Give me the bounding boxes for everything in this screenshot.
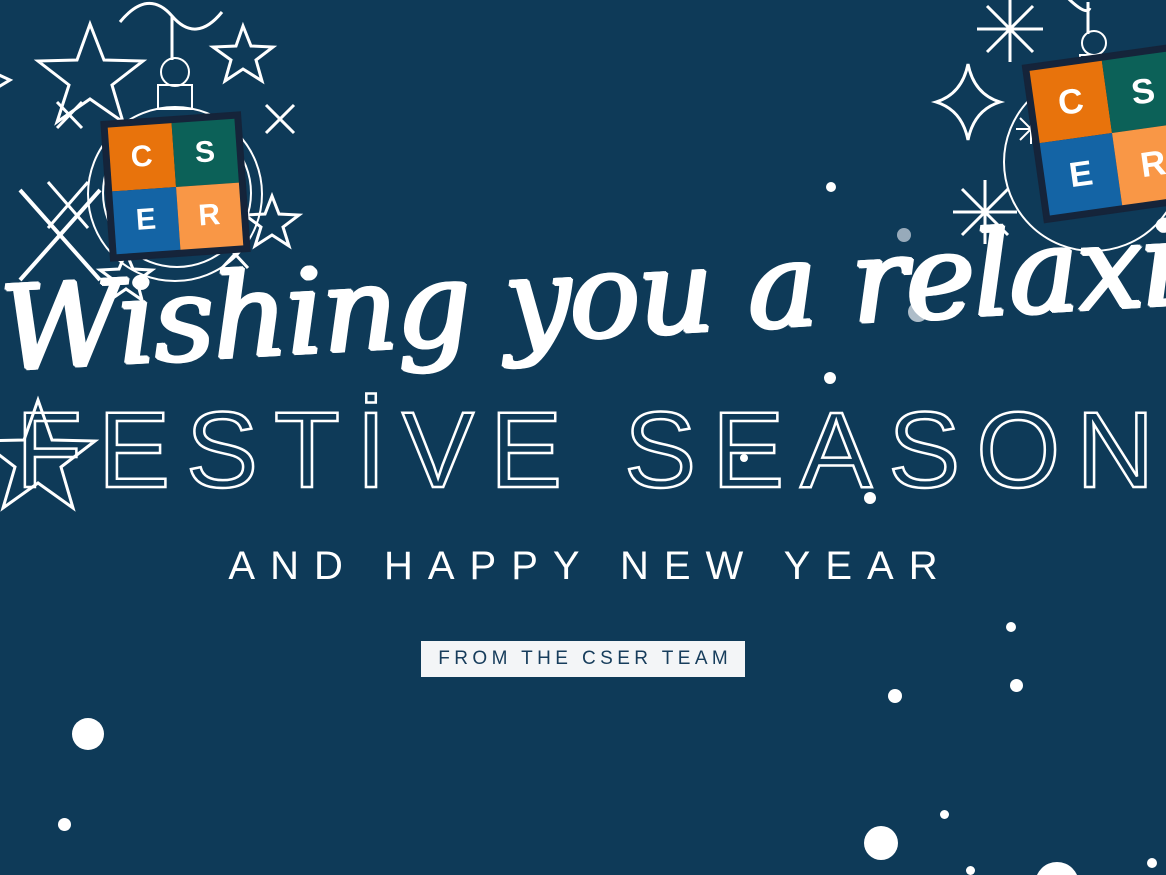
signoff-container: FROM THE CSER TEAM [0,641,1166,677]
subheadline-new-year: AND HAPPY NEW YEAR [0,546,1166,586]
script-greeting-line: Wishing you a relaxing [0,206,1166,389]
greeting-content: Wishing you a relaxing FESTİVE SEASON AN… [0,0,1166,875]
signoff-from-cser-team: FROM THE CSER TEAM [421,641,745,677]
festive-greeting-card: C S E R C S E R Wishing you a relaxing F… [0,0,1166,875]
headline-festive-season: FESTİVE SEASON [0,396,1166,504]
